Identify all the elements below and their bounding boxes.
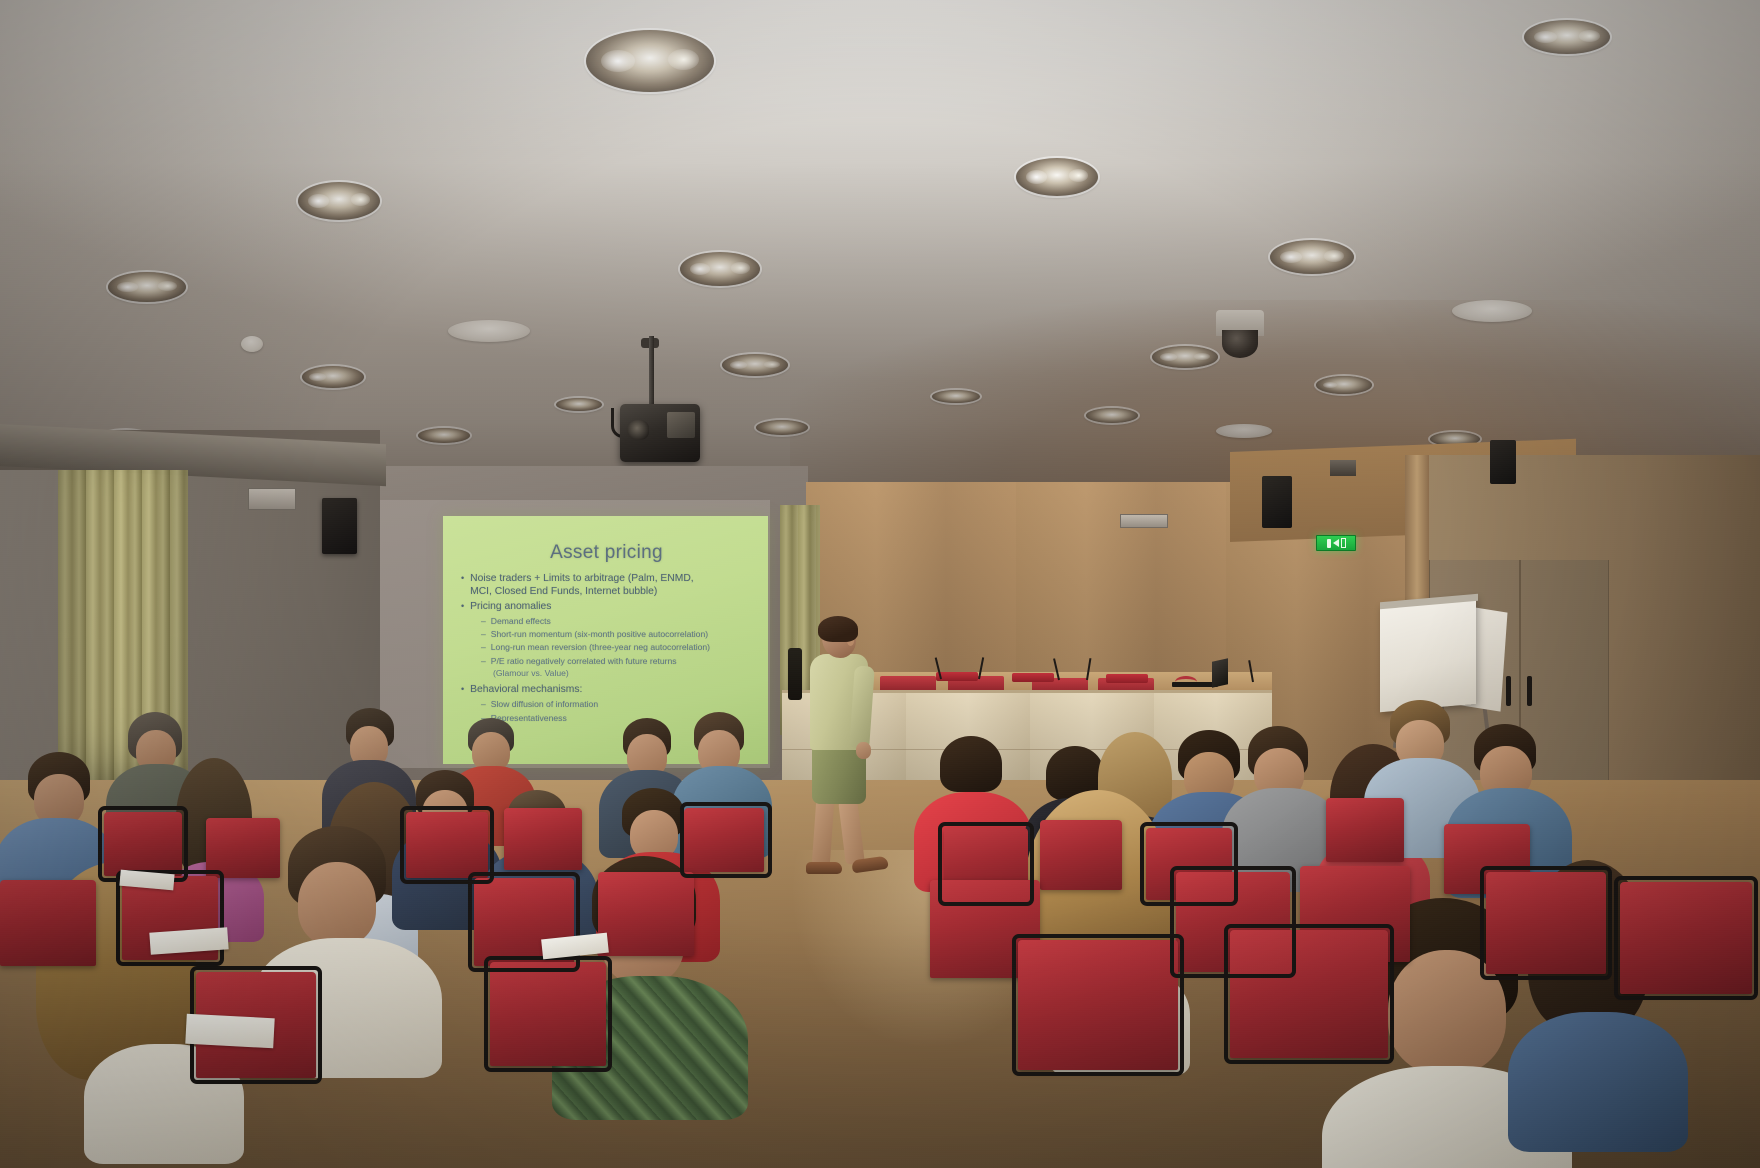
presenter-leg: [812, 799, 835, 866]
hair: [940, 736, 1002, 792]
bullet-text: Pricing anomalies: [470, 600, 551, 613]
slide-bullet: • Pricing anomalies: [461, 600, 758, 613]
bullet-marker: •: [461, 683, 464, 696]
air-grille-icon: [248, 488, 296, 510]
bullet-text: Short-run momentum (six-month positive a…: [491, 628, 708, 640]
bullet-marker: –: [481, 641, 486, 653]
chair-frame: [1480, 866, 1612, 980]
bullet-text: Noise traders + Limits to arbitrage (Pal…: [470, 572, 693, 598]
bullet-text: Long-run mean reversion (three-year neg …: [491, 641, 710, 653]
torso: [1508, 1012, 1688, 1152]
bullet-text: Behavioral mechanisms:: [470, 683, 582, 696]
slide-bullet: • Noise traders + Limits to arbitrage (P…: [461, 572, 758, 598]
presenter: [800, 620, 910, 895]
bullet-text: Demand effects: [491, 615, 551, 627]
presenter-hand: [856, 742, 871, 759]
bullet-marker: –: [481, 698, 486, 710]
microphone-base: [1106, 674, 1148, 683]
slide-bullet: • Behavioral mechanisms:: [461, 683, 758, 696]
exit-arrow-icon: [1333, 539, 1339, 547]
auditorium-chair[interactable]: [206, 818, 280, 878]
laptop-screen: [1212, 658, 1228, 687]
chair-frame: [1224, 924, 1394, 1064]
exit-door-icon: [1341, 538, 1346, 548]
chair-frame: [484, 956, 612, 1072]
wall-speaker-icon: [1262, 476, 1292, 528]
auditorium-chair[interactable]: [1040, 820, 1122, 890]
door-handle-icon[interactable]: [1527, 676, 1532, 706]
chair-frame: [938, 822, 1034, 906]
bullet-text-continuation: (Glamour vs. Value): [493, 668, 758, 680]
handout-paper: [185, 1014, 274, 1049]
door-handle-icon[interactable]: [1506, 676, 1511, 706]
bullet-text: P/E ratio negatively correlated with fut…: [491, 655, 677, 667]
chair-frame: [1012, 934, 1184, 1076]
auditorium-chair[interactable]: [0, 880, 96, 966]
auditorium-chair[interactable]: [1326, 798, 1404, 862]
chair-frame: [1614, 876, 1758, 1000]
bullet-marker: •: [461, 600, 464, 613]
slide-title: Asset pricing: [455, 542, 758, 564]
wall-sensor-icon: [1330, 460, 1356, 476]
microphone-base: [1012, 673, 1054, 682]
slide-subbullet: – Demand effects: [481, 615, 758, 627]
bullet-marker: •: [461, 572, 464, 598]
slide-subbullet: – Long-run mean reversion (three-year ne…: [481, 641, 758, 653]
chair-frame: [680, 802, 772, 878]
wall-speaker-icon: [1490, 440, 1516, 484]
slide-subbullet: – Slow diffusion of information: [481, 698, 758, 710]
presenter-arm: [849, 665, 875, 748]
head: [298, 862, 376, 946]
presenter-sandal-icon: [806, 862, 842, 874]
auditorium-chair[interactable]: [598, 872, 694, 956]
slide-subbullet: – P/E ratio negatively correlated with f…: [481, 655, 758, 667]
microphone-base: [936, 672, 978, 681]
exit-sign: [1316, 535, 1356, 551]
slide-subbullet: – Short-run momentum (six-month positive…: [481, 628, 758, 640]
lecture-hall-photo: Asset pricing • Noise traders + Limits t…: [0, 0, 1760, 1168]
wall-speaker-icon: [322, 498, 357, 554]
flip-chart: [1380, 596, 1476, 712]
bullet-marker: –: [481, 628, 486, 640]
presenter-leg: [838, 799, 865, 865]
bullet-text: Slow diffusion of information: [491, 698, 598, 710]
auditorium-chair[interactable]: [504, 808, 582, 870]
presenter-hair: [818, 616, 858, 642]
ceiling-projector-icon: [620, 404, 700, 462]
air-grille-icon: [1120, 514, 1168, 528]
projector-mount-pole: [649, 336, 654, 406]
exit-running-figure-icon: [1327, 539, 1331, 548]
bullet-marker: –: [481, 655, 486, 667]
bullet-marker: –: [481, 615, 486, 627]
